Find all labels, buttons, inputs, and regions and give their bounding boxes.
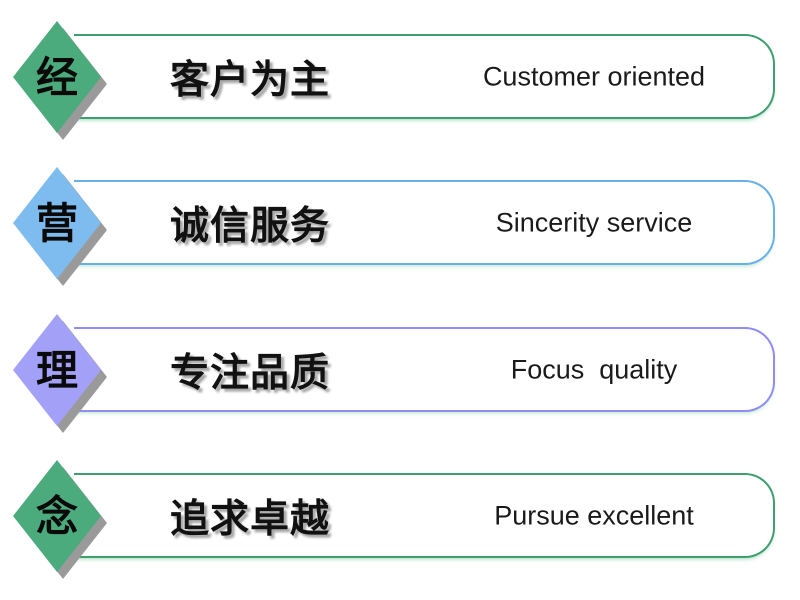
value-badge-character: 念 (36, 496, 78, 538)
value-row-4: 追求卓越 Pursue excellent 念 (0, 460, 800, 572)
value-badge-character: 经 (36, 57, 78, 99)
value-badge-4[interactable]: 念 (13, 460, 101, 572)
value-bar-1[interactable]: 客户为主 Customer oriented (74, 34, 775, 119)
value-bar-3[interactable]: 专注品质 Focus quality (74, 327, 775, 412)
value-english-label: Sincerity service (469, 207, 719, 238)
diamond-shape: 念 (13, 460, 101, 572)
diamond-shape: 理 (13, 314, 101, 426)
value-badge-character: 营 (36, 203, 78, 245)
value-chinese-label: 追求卓越 (170, 488, 330, 544)
value-bar-4[interactable]: 追求卓越 Pursue excellent (74, 473, 775, 558)
values-board: 客户为主 Customer oriented 经 诚信服务 Sincerity … (0, 0, 800, 600)
diamond-shape: 营 (13, 167, 101, 279)
diamond-shape: 经 (13, 21, 101, 133)
value-chinese-label: 专注品质 (170, 342, 330, 398)
value-english-label: Pursue excellent (469, 500, 719, 531)
value-chinese-label: 诚信服务 (170, 195, 330, 251)
value-bar-2[interactable]: 诚信服务 Sincerity service (74, 180, 775, 265)
value-english-label: Customer oriented (469, 61, 719, 92)
value-english-label: Focus quality (469, 354, 719, 385)
value-badge-character: 理 (36, 350, 78, 392)
value-row-1: 客户为主 Customer oriented 经 (0, 21, 800, 133)
value-badge-2[interactable]: 营 (13, 167, 101, 279)
value-row-3: 专注品质 Focus quality 理 (0, 314, 800, 426)
value-row-2: 诚信服务 Sincerity service 营 (0, 167, 800, 279)
value-badge-1[interactable]: 经 (13, 21, 101, 133)
value-badge-3[interactable]: 理 (13, 314, 101, 426)
value-chinese-label: 客户为主 (170, 49, 330, 105)
